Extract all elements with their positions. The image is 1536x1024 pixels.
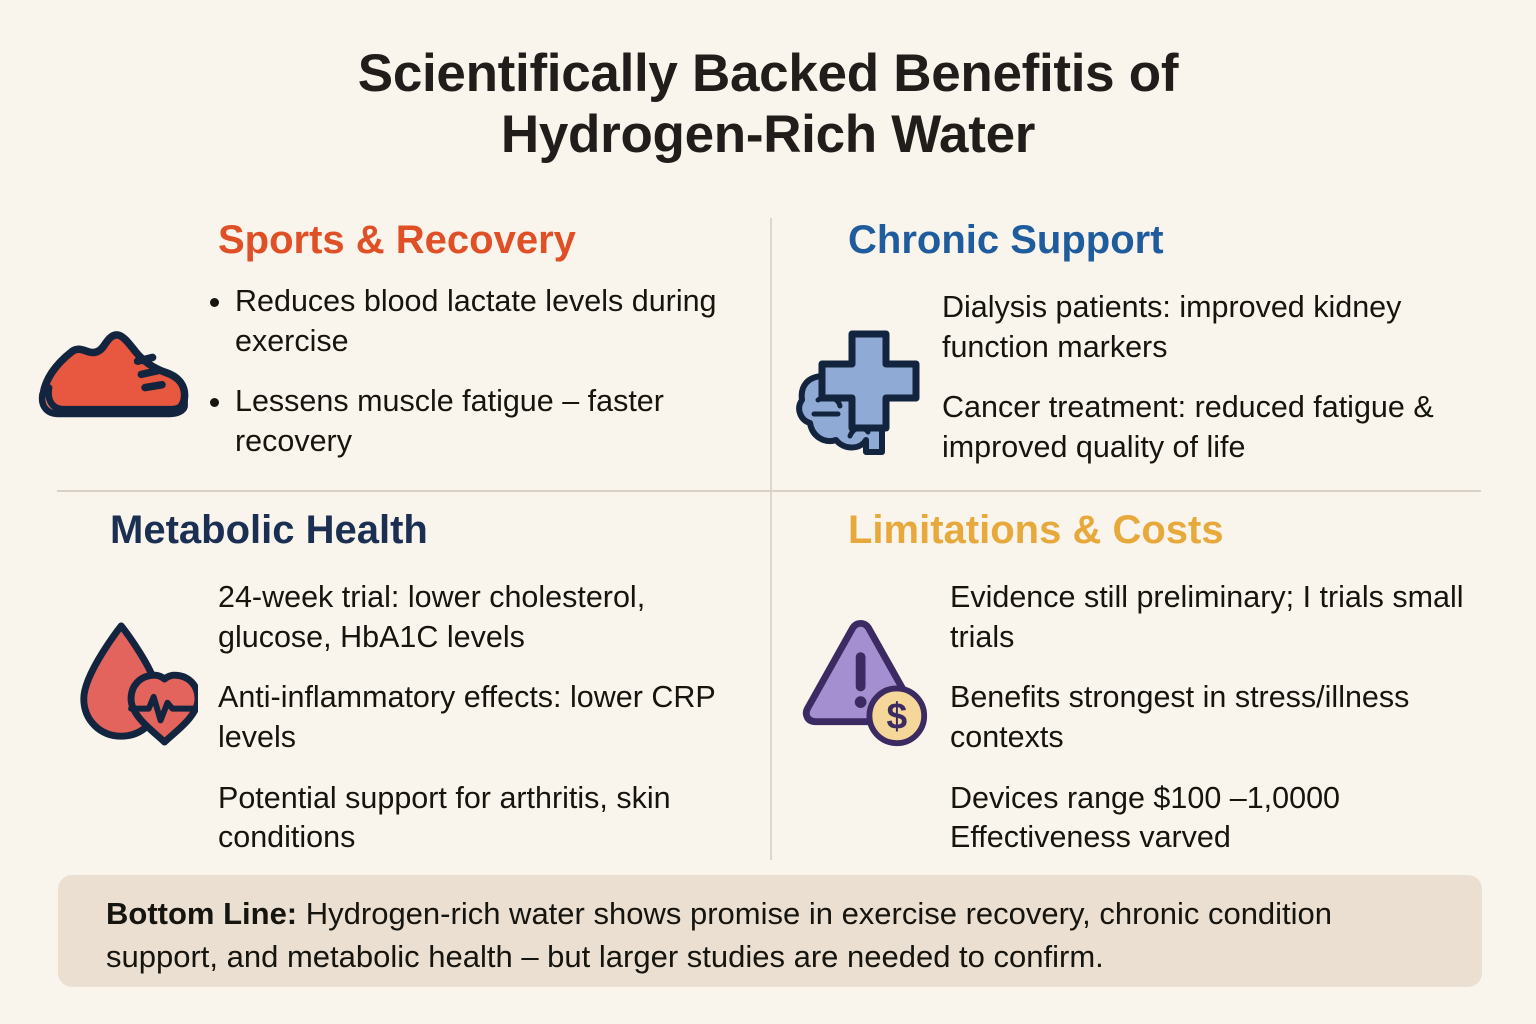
blood-drop-heartbeat-icon: [70, 618, 198, 756]
quadrant-points-chronic-support: Dialysis patients: improved kidney funct…: [924, 272, 1490, 468]
vertical-divider: [770, 218, 772, 860]
svg-text:$: $: [886, 694, 907, 736]
quadrant-points-limitations-costs: Evidence still preliminary; I trials sma…: [932, 562, 1490, 858]
quadrant-chronic-support: Chronic Support Dialysis patients: impro…: [790, 218, 1490, 468]
bottom-line-label: Bottom Line:: [106, 896, 297, 931]
bottom-line-text: Bottom Line: Hydrogen-rich water shows p…: [106, 893, 1438, 979]
quadrant-sports-recovery: Sports & Recovery Reduces blood lactate …: [48, 218, 760, 462]
quadrant-heading-sports-recovery: Sports & Recovery: [48, 218, 760, 262]
warning-triangle-coin-icon: $: [800, 618, 932, 755]
quadrant-body-metabolic-health: 24-week trial: lower cholesterol, glucos…: [48, 562, 760, 858]
quadrant-heading-chronic-support: Chronic Support: [790, 218, 1490, 262]
list-item: Anti-inflammatory effects: lower CRP lev…: [218, 678, 760, 757]
quadrant-points-metabolic-health: 24-week trial: lower cholesterol, glucos…: [198, 562, 760, 858]
horizontal-divider: [57, 490, 1481, 492]
page-title-line1: Scientifically Backed Benefitis of: [358, 44, 1178, 103]
quadrant-points-sports-recovery: Reduces blood lactate levels during exer…: [194, 272, 760, 462]
quadrant-limitations-costs: Limitations & Costs $ Evidence still pre…: [790, 508, 1490, 858]
page-title: Scientifically Backed Benefitis of Hydro…: [0, 44, 1536, 166]
quadrant-body-limitations-costs: $ Evidence still preliminary; I trials s…: [790, 562, 1490, 858]
list-item: Evidence still preliminary; I trials sma…: [950, 578, 1490, 657]
quadrant-heading-limitations-costs: Limitations & Costs: [790, 508, 1490, 552]
list-item: 24-week trial: lower cholesterol, glucos…: [218, 578, 760, 657]
quadrant-body-sports-recovery: Reduces blood lactate levels during exer…: [48, 272, 760, 462]
bottom-line-banner: Bottom Line: Hydrogen-rich water shows p…: [58, 875, 1482, 987]
list-item: Reduces blood lactate levels during exer…: [202, 282, 760, 361]
list-item: Potential support for arthritis, skin co…: [218, 779, 760, 858]
list-item: Cancer treatment: reduced fatigue & impr…: [942, 388, 1490, 467]
quadrant-body-chronic-support: Dialysis patients: improved kidney funct…: [790, 272, 1490, 468]
list-item: Devices range $100 –1,0000 Effectiveness…: [950, 779, 1490, 858]
quadrant-metabolic-health: Metabolic Health 24-week trial: lower ch…: [48, 508, 760, 858]
list-item: Benefits strongest in stress/illness con…: [950, 678, 1490, 757]
medical-cross-brain-icon: [794, 324, 924, 464]
running-shoe-icon: [34, 316, 194, 434]
page-title-line2: Hydrogen-Rich Water: [0, 105, 1536, 166]
quadrant-heading-metabolic-health: Metabolic Health: [48, 508, 760, 552]
list-item: Lessens muscle fatigue – faster recovery: [202, 382, 760, 461]
list-item: Dialysis patients: improved kidney funct…: [942, 288, 1490, 367]
